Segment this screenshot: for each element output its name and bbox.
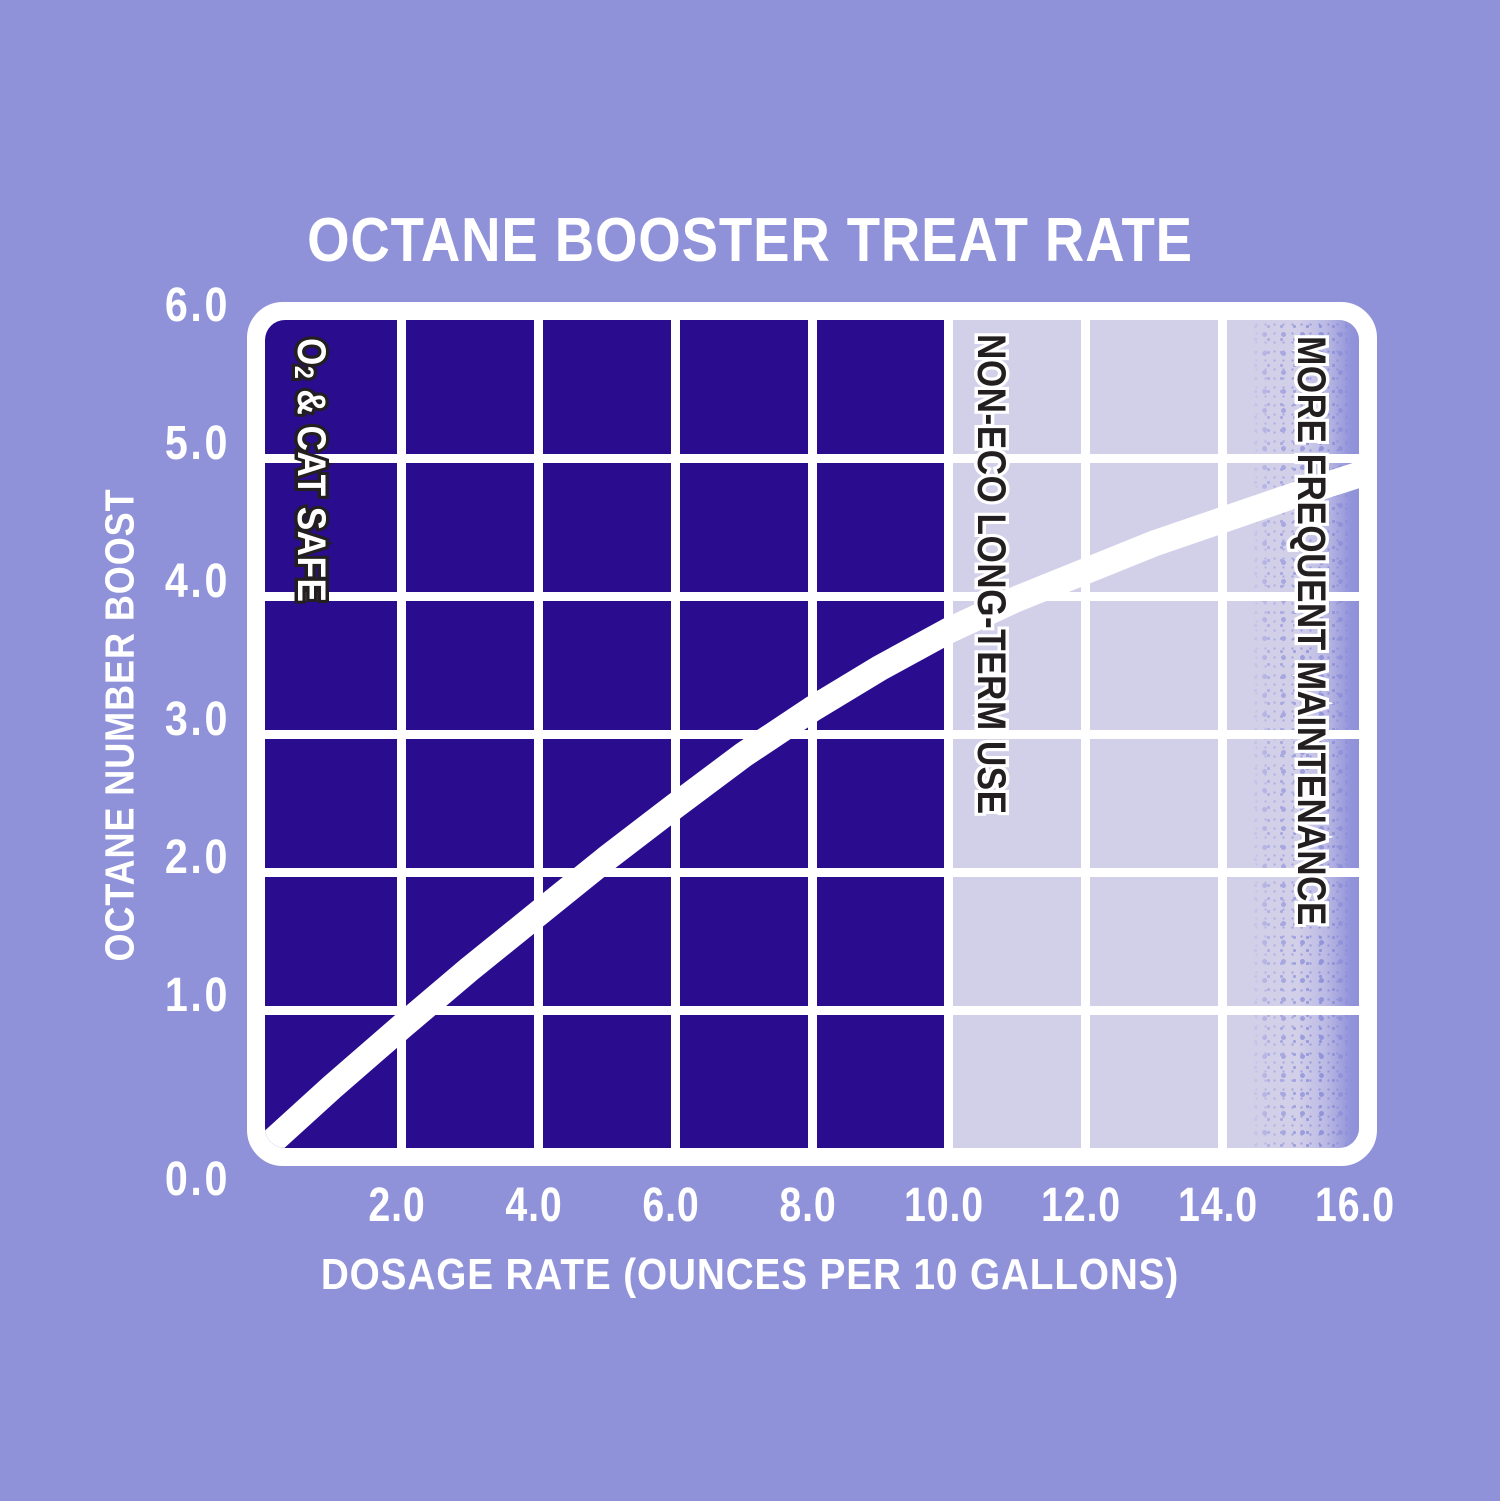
x-axis-title: DOSAGE RATE (OUNCES PER 10 GALLONS) [90,1250,1410,1300]
y-tick-3: 3.0 [127,692,230,747]
x-tick-10: 10.0 [879,1178,1010,1233]
zone-label-more-frequent-maintenance: MORE FREQUENT MAINTENANCE [1288,336,1333,926]
x-tick-12: 12.0 [1015,1178,1146,1233]
y-tick-5: 5.0 [127,416,230,471]
page-title: OCTANE BOOSTER TREAT RATE [90,205,1410,276]
y-tick-1: 1.0 [127,968,230,1023]
zone-label-o2-prefix: O [289,338,333,366]
y-tick-6: 6.0 [127,278,230,333]
plot-clip: O2 & CAT SAFE NON-ECO LONG-TERM USE MORE… [265,320,1359,1148]
zone-label-o2-cat-safe: O2 & CAT SAFE [288,338,333,602]
x-tick-6: 6.0 [605,1178,736,1233]
x-axis-tick-labels: 2.0 4.0 6.0 8.0 10.0 12.0 14.0 16.0 [265,1178,1359,1238]
plot-area: O2 & CAT SAFE NON-ECO LONG-TERM USE MORE… [247,302,1377,1166]
x-tick-2: 2.0 [332,1178,463,1233]
y-tick-4: 4.0 [127,554,230,609]
zone-label-o2-subscript: 2 [289,366,319,379]
data-curve [265,320,1359,1148]
y-tick-0: 0.0 [127,1152,230,1207]
y-axis-tick-labels: 6.0 5.0 4.0 3.0 2.0 1.0 0.0 [55,302,230,1166]
octane-booster-treat-rate-chart: OCTANE BOOSTER TREAT RATE OCTANE NUMBER … [0,0,1500,1501]
zone-label-o2-suffix: & CAT SAFE [289,379,333,602]
x-tick-14: 14.0 [1152,1178,1283,1233]
y-tick-2: 2.0 [127,830,230,885]
x-tick-8: 8.0 [742,1178,873,1233]
x-tick-16: 16.0 [1289,1178,1420,1233]
x-tick-4: 4.0 [468,1178,599,1233]
zone-label-non-eco-long-term-use: NON-ECO LONG-TERM USE [968,334,1013,815]
